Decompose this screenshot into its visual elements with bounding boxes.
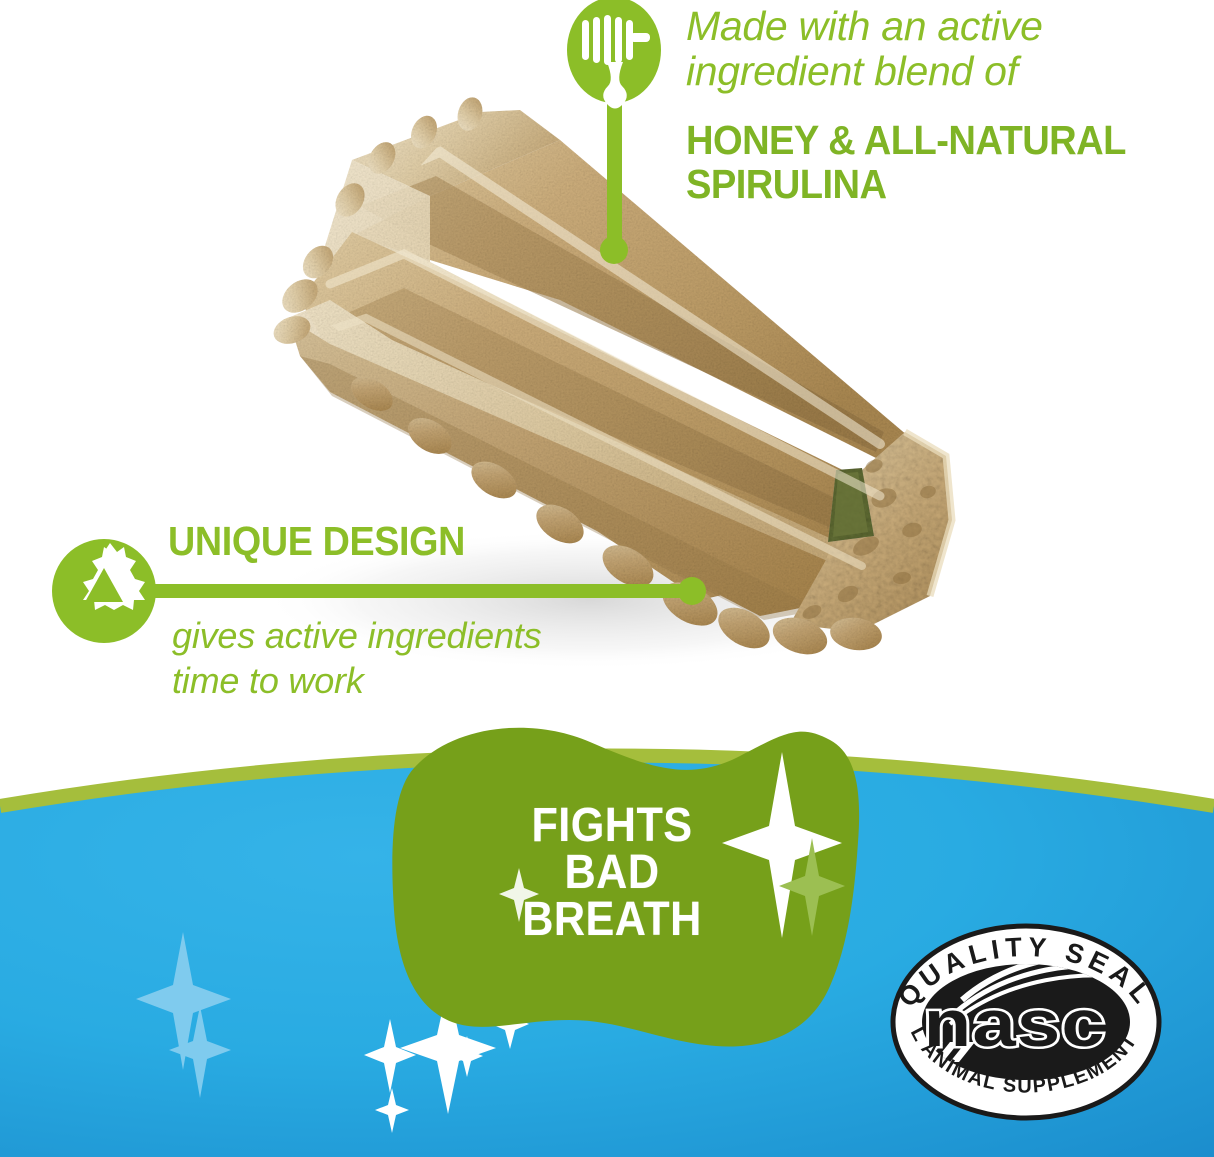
text-layer: Made with an active ingredient blend of … [0, 0, 1214, 1157]
unique-design-subtitle: gives active ingredients time to work [172, 613, 692, 703]
honey-headline: HONEY & ALL-NATURAL SPIRULINA [686, 118, 1170, 206]
blob-line-2: BAD [432, 849, 792, 896]
unique-design-title: UNIQUE DESIGN [168, 519, 465, 563]
honey-script-line-1: Made with an active [686, 3, 1043, 49]
honey-headline-line-1: HONEY & ALL-NATURAL [686, 117, 1126, 163]
honey-headline-line-2: SPIRULINA [686, 162, 1170, 206]
infographic-canvas: nasc QUALITY SEAL NATIONAL ANIMAL SUPPLE… [0, 0, 1214, 1157]
honey-script-line-2: ingredient blend of [686, 48, 1018, 94]
fights-bad-breath-text: FIGHTS BAD BREATH [432, 802, 792, 943]
unique-design-sub-line-1: gives active ingredients [172, 615, 541, 656]
unique-design-sub-line-2: time to work [172, 658, 692, 703]
blob-line-1: FIGHTS [432, 802, 792, 849]
honey-script-copy: Made with an active ingredient blend of [686, 4, 1196, 94]
blob-line-3: BREATH [432, 896, 792, 943]
